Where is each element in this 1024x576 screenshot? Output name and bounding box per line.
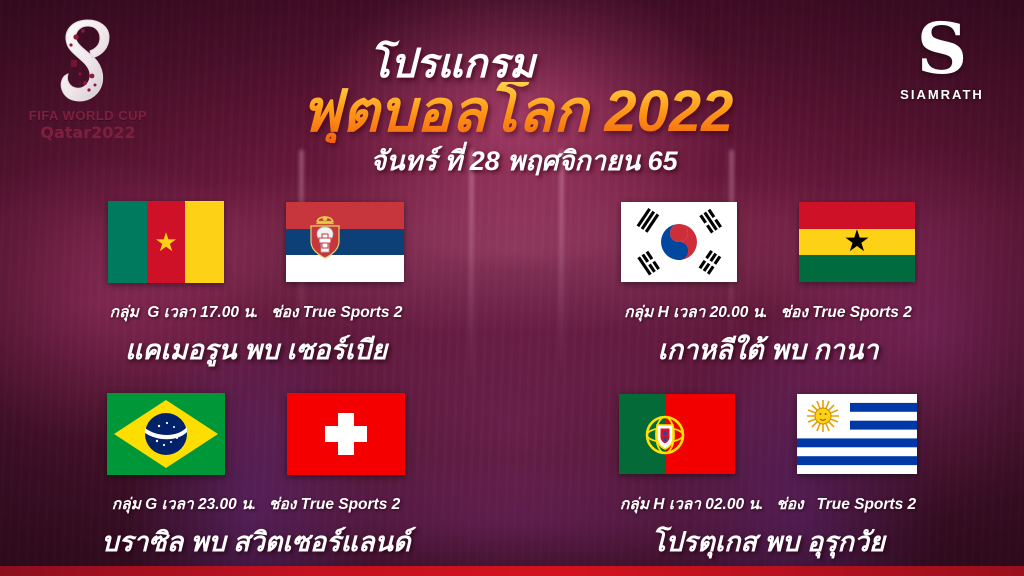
match-flags bbox=[107, 384, 405, 484]
match-grid: ★ bbox=[0, 192, 1024, 576]
match-flags: ★ bbox=[108, 192, 404, 292]
portugal-flag bbox=[619, 394, 735, 474]
match-meta: กลุ่ม H เวลา 02.00 น. ช่อง True Sports 2 bbox=[620, 491, 916, 516]
program-label: โปรแกรม bbox=[0, 44, 1024, 84]
match-teams: แคเมอรูน พบ เซอร์เบีย bbox=[125, 328, 387, 371]
match-meta: กลุ่ม G เวลา 23.00 น. ช่อง True Sports 2 bbox=[112, 491, 401, 516]
uruguay-flag bbox=[797, 394, 917, 474]
south-korea-flag bbox=[621, 202, 737, 282]
match-row: ★ bbox=[0, 192, 1024, 384]
match-flags: ★ bbox=[621, 192, 915, 292]
taegeuk-icon bbox=[621, 202, 737, 282]
world-cup-schedule-poster: FIFA WORLD CUP Qatar2022 S SIAMRATH โปรแ… bbox=[0, 0, 1024, 576]
match-teams: เกาหลีใต้ พบ กานา bbox=[658, 328, 879, 371]
serbia-coat-of-arms-icon bbox=[308, 214, 342, 260]
match-teams: บราซิล พบ สวิตเซอร์แลนด์ bbox=[102, 520, 411, 563]
match-card-brazil-switzerland[interactable]: กลุ่ม G เวลา 23.00 น. ช่อง True Sports 2… bbox=[0, 384, 512, 576]
portugal-armillary-icon bbox=[645, 415, 685, 455]
poster-header: โปรแกรม ฟุตบอลโลก 2022 จันทร์ ที่ 28 พฤศ… bbox=[0, 44, 1024, 182]
brazil-flag bbox=[107, 393, 225, 475]
match-teams: โปรตุเกส พบ อุรุกวัย bbox=[651, 520, 885, 563]
schedule-date: จันทร์ ที่ 28 พฤศจิกายน 65 bbox=[24, 139, 1024, 182]
match-card-portugal-uruguay[interactable]: กลุ่ม H เวลา 02.00 น. ช่อง True Sports 2… bbox=[512, 384, 1024, 576]
match-row: กลุ่ม G เวลา 23.00 น. ช่อง True Sports 2… bbox=[0, 384, 1024, 576]
match-meta: กลุ่ม G เวลา 17.00 น. ช่อง True Sports 2 bbox=[110, 299, 403, 324]
uruguay-sun-icon bbox=[797, 394, 917, 474]
switzerland-flag bbox=[287, 393, 405, 475]
serbia-flag bbox=[286, 202, 404, 282]
ghana-flag: ★ bbox=[799, 202, 915, 282]
bottom-accent-bar bbox=[0, 566, 1024, 576]
swiss-cross-icon bbox=[287, 393, 405, 475]
match-card-cameroon-serbia[interactable]: ★ bbox=[0, 192, 512, 384]
cameroon-flag: ★ bbox=[108, 201, 224, 283]
match-card-southkorea-ghana[interactable]: ★ กลุ่ม H เวลา 20.00 น. ช่อง True Sports… bbox=[512, 192, 1024, 384]
match-meta: กลุ่ม H เวลา 20.00 น. ช่อง True Sports 2 bbox=[624, 299, 912, 324]
brazil-globe-icon bbox=[107, 393, 225, 475]
match-flags bbox=[619, 384, 917, 484]
page-title: ฟุตบอลโลก 2022 bbox=[10, 82, 1024, 143]
